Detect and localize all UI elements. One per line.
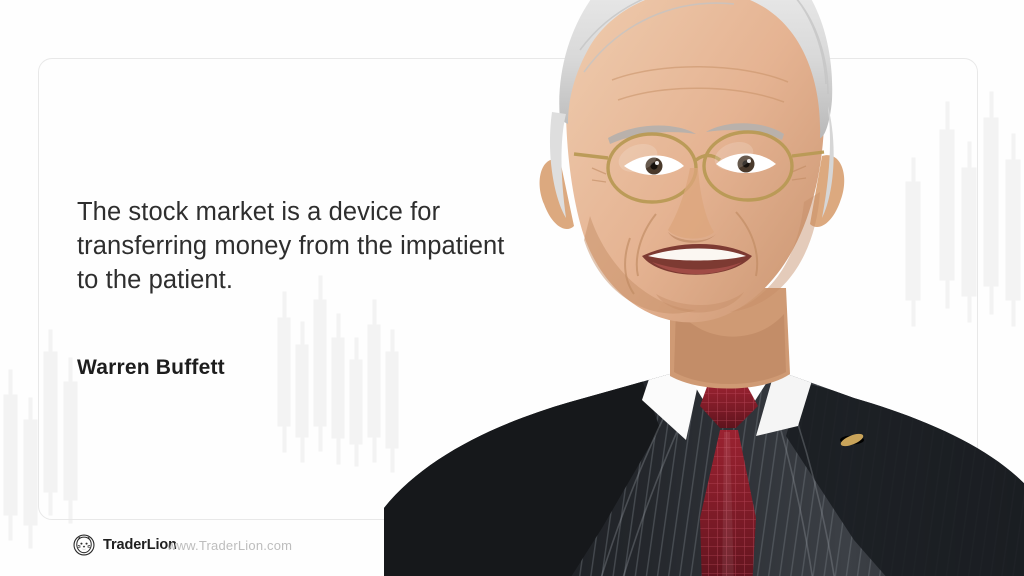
quote-author: Warren Buffett [77, 356, 225, 380]
lion-head-icon [73, 534, 95, 556]
brand-logo-group[interactable]: TraderLion [73, 534, 177, 556]
brand-name: TraderLion [103, 537, 177, 553]
slide-canvas: The stock market is a device for transfe… [0, 0, 1024, 576]
brand-url[interactable]: www.TraderLion.com [167, 538, 292, 553]
quote-text: The stock market is a device for transfe… [77, 196, 537, 298]
